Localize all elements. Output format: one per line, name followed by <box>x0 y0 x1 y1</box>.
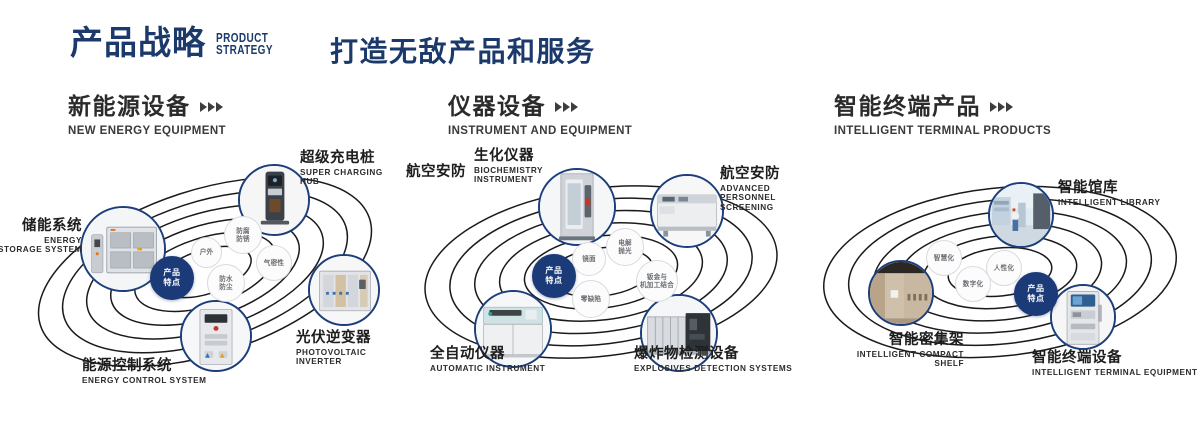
feature-line1: 气密性 <box>264 259 284 267</box>
section-title-en: INSTRUMENT AND EQUIPMENT <box>448 125 632 137</box>
feature-line1: 零缺陷 <box>581 295 601 303</box>
label-cn: 智能馆库 <box>1058 180 1160 196</box>
label-en: INTELLIGENT LIBRARY <box>1058 198 1160 207</box>
label-cn: 生化仪器 <box>474 148 536 164</box>
core-line1: 产品 <box>163 268 180 277</box>
product-strategy-infographic: 产品战略 PRODUCT STRATEGY 打造无敌产品和服务 新能源设备 NE… <box>0 0 1200 422</box>
feature-core-new-energy: 产品 特点 <box>150 256 194 300</box>
feature-bubble-zero-defect: 零缺陷 <box>572 280 610 318</box>
feature-bubble-sheetmetal-machining: 钣金与 机加工结合 <box>636 260 678 302</box>
label-en: AUTOMATIC INSTRUMENT <box>430 364 545 373</box>
label-en: BIOCHEMISTRY INSTRUMENT <box>474 166 536 184</box>
label-aviation-security-left: 航空安防 <box>406 164 466 180</box>
feature-line2: 防锈 <box>236 235 250 243</box>
page-subtitle: 打造无敌产品和服务 <box>330 30 596 70</box>
label-en: ENERGY STORAGE SYSTEM <box>0 236 82 254</box>
feature-line1: 镜面 <box>582 255 596 263</box>
diagram-instrument: 航空安防 生化仪器 BIOCHEMISTRY INSTRUMENT <box>398 150 804 410</box>
label-cn: 储能系统 <box>0 218 82 234</box>
feature-line1: 防水 <box>219 275 233 283</box>
label-cn: 航空安防 <box>406 164 466 180</box>
core-line2: 特点 <box>545 276 562 285</box>
section-heading-instrument: 仪器设备 INSTRUMENT AND EQUIPMENT <box>448 94 632 137</box>
core-line1: 产品 <box>1027 284 1044 293</box>
page-title-english: PRODUCT STRATEGY <box>216 32 273 58</box>
page-title-english-line2: STRATEGY <box>216 44 273 57</box>
label-en: EXPLOSIVES DETECTION SYSTEMS <box>634 364 792 373</box>
label-advanced-personnel-screening: 航空安防 ADVANCED PERSONNEL SCREENING <box>720 166 794 212</box>
label-cn: 智能密集架 <box>830 332 964 348</box>
feature-bubble-outdoor: 户外 <box>191 237 222 268</box>
feature-line1: 户外 <box>200 248 214 256</box>
chevron-right-icon <box>555 102 578 112</box>
intelligent-compact-shelf-photo <box>870 262 932 324</box>
feature-bubble-anticorrosion: 防腐 防锈 <box>224 216 262 254</box>
label-cn: 超级充电桩 <box>300 150 400 166</box>
page-title: 产品战略 <box>70 26 206 59</box>
feature-line2: 防尘 <box>219 283 233 291</box>
label-en: SUPER CHARGING HUB <box>300 168 400 186</box>
section-title-cn: 智能终端产品 <box>834 94 981 120</box>
section-heading-new-energy: 新能源设备 NEW ENERGY EQUIPMENT <box>68 94 226 137</box>
label-cn: 智能终端设备 <box>1032 350 1198 366</box>
label-en: ADVANCED PERSONNEL SCREENING <box>720 184 794 212</box>
feature-line2: 机加工结合 <box>640 281 674 289</box>
photovoltaic-inverter-photo <box>310 256 378 324</box>
label-cn: 能源控制系统 <box>82 358 207 374</box>
feature-bubble-electropolishing: 电解 抛光 <box>606 228 644 266</box>
section-title-en: NEW ENERGY EQUIPMENT <box>68 125 226 137</box>
label-photovoltaic-inverter: 光伏逆变器 PHOTOVOLTAIC INVERTER <box>296 330 400 367</box>
page-title-block: 产品战略 PRODUCT STRATEGY <box>70 26 287 59</box>
label-cn: 航空安防 <box>720 166 794 182</box>
feature-line1: 智慧化 <box>934 254 954 262</box>
label-biochemistry-instrument: 生化仪器 BIOCHEMISTRY INSTRUMENT <box>474 148 536 185</box>
label-intelligent-library: 智能馆库 INTELLIGENT LIBRARY <box>1058 180 1160 207</box>
label-explosives-detection-systems: 爆炸物检测设备 EXPLOSIVES DETECTION SYSTEMS <box>634 346 792 373</box>
label-intelligent-compact-shelf: 智能密集架 INTELLIGENT COMPACT SHELF <box>830 332 964 369</box>
feature-line1: 钣金与 <box>647 273 667 281</box>
diagram-intelligent-terminal: 智能馆库 INTELLIGENT LIBRARY 智能密集架 INTEL <box>800 150 1200 410</box>
node-photovoltaic-inverter[interactable] <box>308 254 380 326</box>
feature-bubble-mirror-finish: 镜面 <box>572 242 606 276</box>
core-line2: 特点 <box>1027 294 1044 303</box>
label-energy-control-system: 能源控制系统 ENERGY CONTROL SYSTEM <box>82 358 207 385</box>
feature-line2: 抛光 <box>618 247 632 255</box>
feature-line1: 人性化 <box>994 264 1014 272</box>
section-title-en: INTELLIGENT TERMINAL PRODUCTS <box>834 125 1051 137</box>
feature-core-instrument: 产品 特点 <box>532 254 576 298</box>
core-line1: 产品 <box>545 266 562 275</box>
diagram-new-energy: 储能系统 ENERGY STORAGE SYSTEM 超级充电桩 SUPER C… <box>0 150 400 410</box>
intelligent-terminal-equipment-photo <box>1052 286 1114 348</box>
chevron-right-icon <box>990 102 1013 112</box>
label-en: ENERGY CONTROL SYSTEM <box>82 376 207 385</box>
node-intelligent-terminal-equipment[interactable] <box>1050 284 1116 350</box>
node-advanced-personnel-screening[interactable] <box>650 174 724 248</box>
node-biochemistry-instrument[interactable] <box>538 168 616 246</box>
chevron-right-icon <box>200 102 223 112</box>
label-en: INTELLIGENT COMPACT SHELF <box>830 350 964 368</box>
advanced-personnel-screening-photo <box>652 176 722 246</box>
feature-line1: 防腐 <box>236 227 250 235</box>
label-energy-storage-system: 储能系统 ENERGY STORAGE SYSTEM <box>0 218 82 255</box>
node-intelligent-compact-shelf[interactable] <box>868 260 934 326</box>
label-intelligent-terminal-equipment: 智能终端设备 INTELLIGENT TERMINAL EQUIPMENT <box>1032 350 1198 377</box>
feature-bubble-airtightness: 气密性 <box>256 245 292 281</box>
label-en: INTELLIGENT TERMINAL EQUIPMENT <box>1032 368 1198 377</box>
page-title-english-line1: PRODUCT <box>216 32 273 45</box>
section-heading-intelligent-terminal: 智能终端产品 INTELLIGENT TERMINAL PRODUCTS <box>834 94 1051 137</box>
label-cn: 全自动仪器 <box>430 346 545 362</box>
feature-core-intelligent-terminal: 产品 特点 <box>1014 272 1058 316</box>
intelligent-library-photo <box>990 184 1052 246</box>
section-title-cn: 新能源设备 <box>68 94 191 120</box>
core-line2: 特点 <box>163 278 180 287</box>
feature-bubble-waterproof: 防水 防尘 <box>207 264 245 302</box>
label-automatic-instrument: 全自动仪器 AUTOMATIC INSTRUMENT <box>430 346 545 373</box>
label-cn: 光伏逆变器 <box>296 330 400 346</box>
node-intelligent-library[interactable] <box>988 182 1054 248</box>
feature-line1: 电解 <box>618 239 632 247</box>
label-super-charging-hub: 超级充电桩 SUPER CHARGING HUB <box>300 150 400 187</box>
biochemistry-instrument-photo <box>540 170 614 244</box>
feature-bubble-smart: 智慧化 <box>926 240 962 276</box>
label-cn: 爆炸物检测设备 <box>634 346 792 362</box>
feature-line1: 数字化 <box>963 280 983 288</box>
section-title-cn: 仪器设备 <box>448 94 546 120</box>
feature-bubble-humanized: 人性化 <box>986 250 1022 286</box>
label-en: PHOTOVOLTAIC INVERTER <box>296 348 400 366</box>
